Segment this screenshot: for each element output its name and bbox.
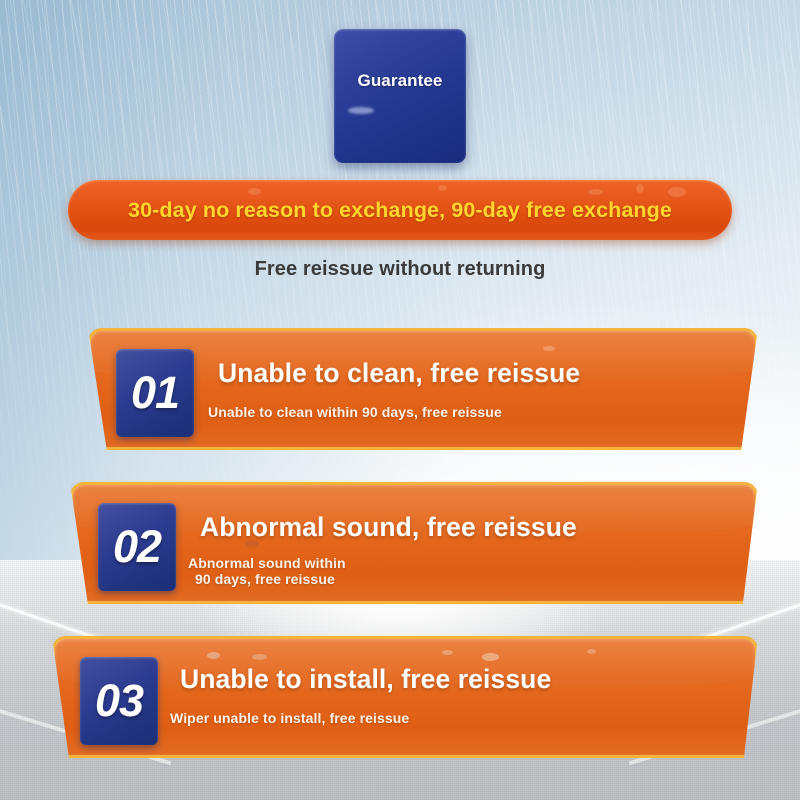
card-subtitle: Unable to clean within 90 days, free rei…	[208, 404, 502, 420]
water-drop-icon	[588, 189, 603, 195]
headline-pill-banner: 30-day no reason to exchange, 90-day fre…	[68, 180, 732, 240]
card-number: 01	[131, 367, 179, 419]
water-drop-icon	[636, 184, 644, 193]
card-subtitle: Wiper unable to install, free reissue	[170, 710, 409, 726]
water-drop-icon	[587, 649, 596, 654]
list-item[interactable]: 02 Abnormal sound, free reissue Abnormal…	[70, 482, 758, 604]
water-drop-icon	[438, 185, 447, 191]
list-item[interactable]: 03 Unable to install, free reissue Wiper…	[52, 636, 758, 758]
guarantee-badge-box: Guarantee	[334, 29, 466, 163]
card-subtitle-line-1: Wiper unable to install, free reissue	[170, 710, 409, 726]
water-drop-icon	[248, 188, 261, 195]
water-drop-icon	[543, 346, 555, 351]
card-number: 03	[95, 675, 143, 727]
banner-subnote: Free reissue without returning	[0, 258, 800, 281]
card-title: Unable to clean, free reissue	[218, 358, 580, 389]
water-drop-icon	[668, 187, 686, 197]
water-drop-icon	[482, 653, 499, 661]
card-number-badge: 01	[116, 349, 194, 437]
card-subtitle-line-1: Abnormal sound within	[188, 555, 346, 571]
card-subtitle-line-2: 90 days, free reissue	[195, 571, 346, 587]
card-number: 02	[113, 521, 161, 573]
guarantee-label: Guarantee	[334, 71, 466, 91]
card-subtitle: Abnormal sound within 90 days, free reis…	[188, 555, 346, 587]
banner-headline: 30-day no reason to exchange, 90-day fre…	[128, 198, 672, 223]
card-number-badge: 03	[80, 657, 158, 745]
card-number-badge: 02	[98, 503, 176, 591]
card-title: Abnormal sound, free reissue	[200, 512, 577, 543]
water-drop-icon	[442, 650, 453, 655]
water-drop-icon	[252, 654, 267, 660]
list-item[interactable]: 01 Unable to clean, free reissue Unable …	[88, 328, 758, 450]
promo-poster: Guarantee 30-day no reason to exchange, …	[0, 0, 800, 800]
card-title: Unable to install, free reissue	[180, 664, 551, 695]
card-subtitle-line-1: Unable to clean within 90 days, free rei…	[208, 404, 502, 420]
water-drop-icon	[207, 652, 220, 659]
